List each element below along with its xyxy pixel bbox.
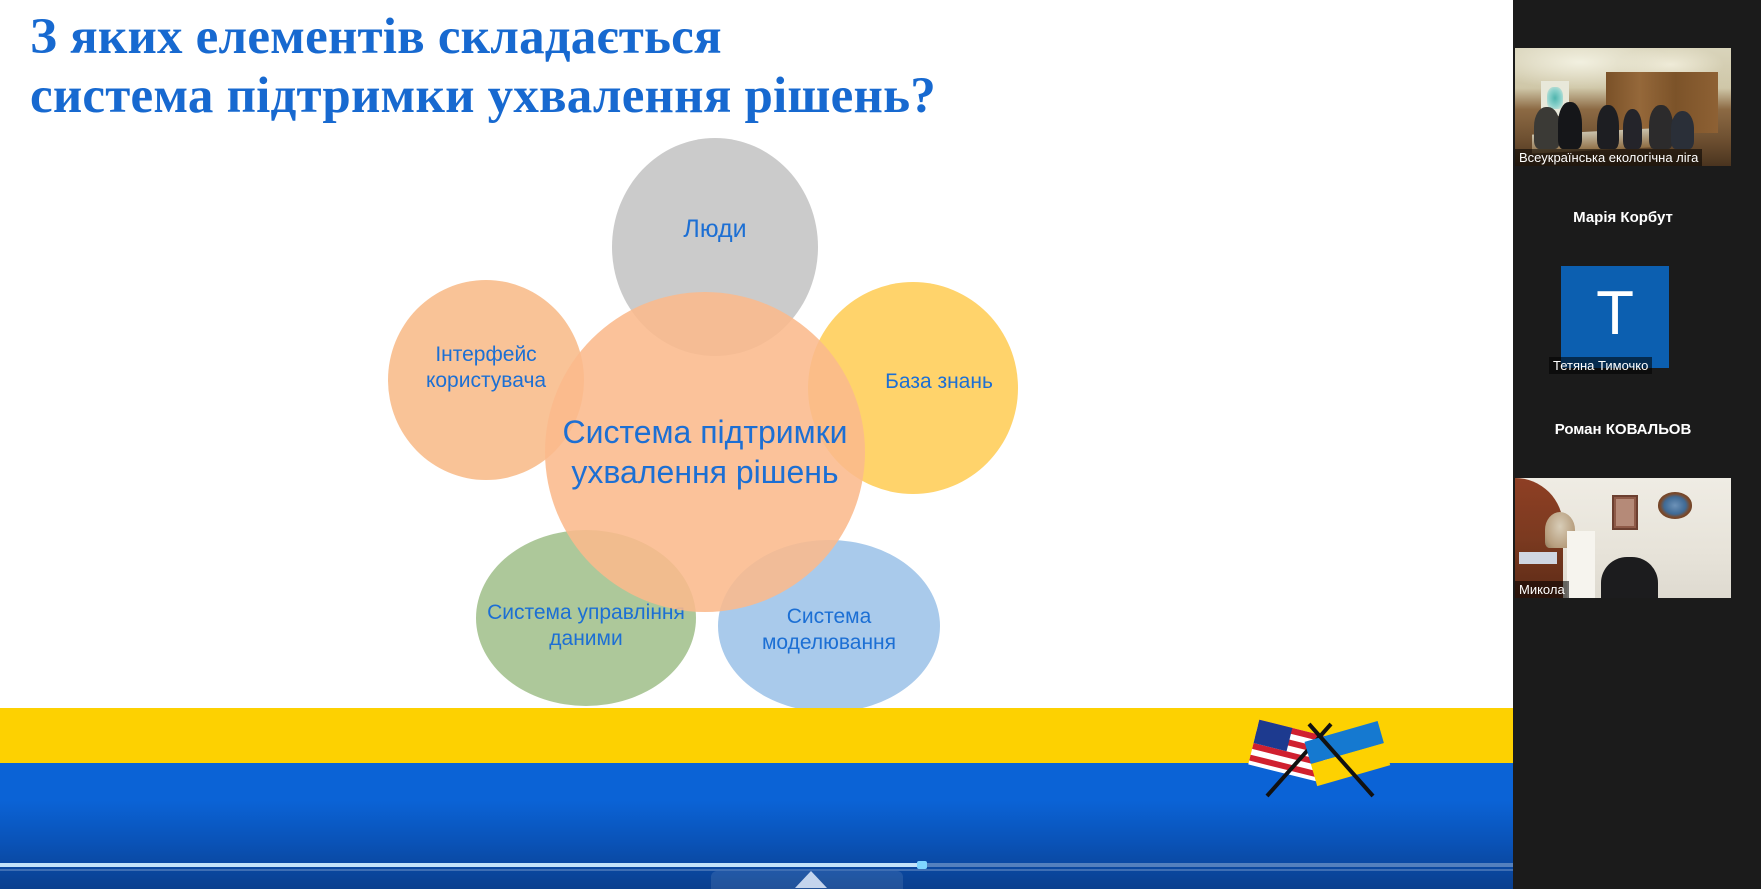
diagram-node-center: Система підтримки ухвалення рішень [545, 292, 865, 612]
playback-progress-fill [0, 863, 925, 867]
avatar-initial: Т [1596, 283, 1634, 345]
page-title: З яких елементів складається система під… [30, 8, 1210, 126]
ukraine-flag-icon [1305, 721, 1391, 796]
diagram-node-center-label: Система підтримки ухвалення рішень [545, 412, 865, 493]
diagram-node-user-interface-label: Інтерфейс користувача [388, 342, 584, 395]
participant-name: Марія Корбут [1573, 209, 1673, 226]
title-line-1: З яких елементів складається [30, 9, 722, 65]
presentation-slide: З яких елементів складається система під… [0, 0, 1613, 889]
playback-progress-bar[interactable] [0, 863, 1613, 867]
participant-tile-korbut[interactable]: Марія Корбут [1515, 172, 1731, 262]
venn-diagram: Люди Інтерфейс користувача База знань Си… [380, 130, 1060, 720]
screen-share-window: З яких елементів складається система під… [0, 0, 1761, 889]
participant-tile-kovalov[interactable]: Роман КОВАЛЬОВ [1515, 384, 1731, 474]
participant-name: Роман КОВАЛЬОВ [1555, 421, 1692, 438]
player-controls-expander[interactable] [711, 871, 903, 889]
title-line-2: система підтримки ухвалення рішень? [30, 67, 1210, 126]
avatar: Т [1561, 266, 1669, 368]
diagram-node-knowledge-base-label: База знань [879, 370, 999, 394]
diagram-node-people-label: Люди [677, 215, 752, 244]
crossed-flags-graphic [1245, 710, 1395, 805]
playback-progress-handle[interactable] [917, 861, 927, 869]
flags-svg [1245, 710, 1395, 805]
participant-tile-tymochko[interactable]: Т Тетяна Тимочко [1515, 266, 1731, 374]
participant-name: Микола [1515, 581, 1569, 598]
participants-rail: Всеукраїнська екологічна ліга Марія Корб… [1513, 0, 1761, 889]
participant-name: Тетяна Тимочко [1549, 357, 1652, 374]
diagram-node-data-management-label: Система управління даними [476, 600, 696, 651]
participant-tile-mykola[interactable]: Микола [1515, 478, 1731, 598]
participant-name: Всеукраїнська екологічна ліга [1515, 149, 1702, 166]
chevron-up-icon [795, 871, 827, 888]
participant-tile-liga[interactable]: Всеукраїнська екологічна ліга [1515, 48, 1731, 166]
participant-video-feed [1515, 478, 1731, 598]
diagram-node-modeling-system-label: Система моделювання [718, 604, 940, 655]
